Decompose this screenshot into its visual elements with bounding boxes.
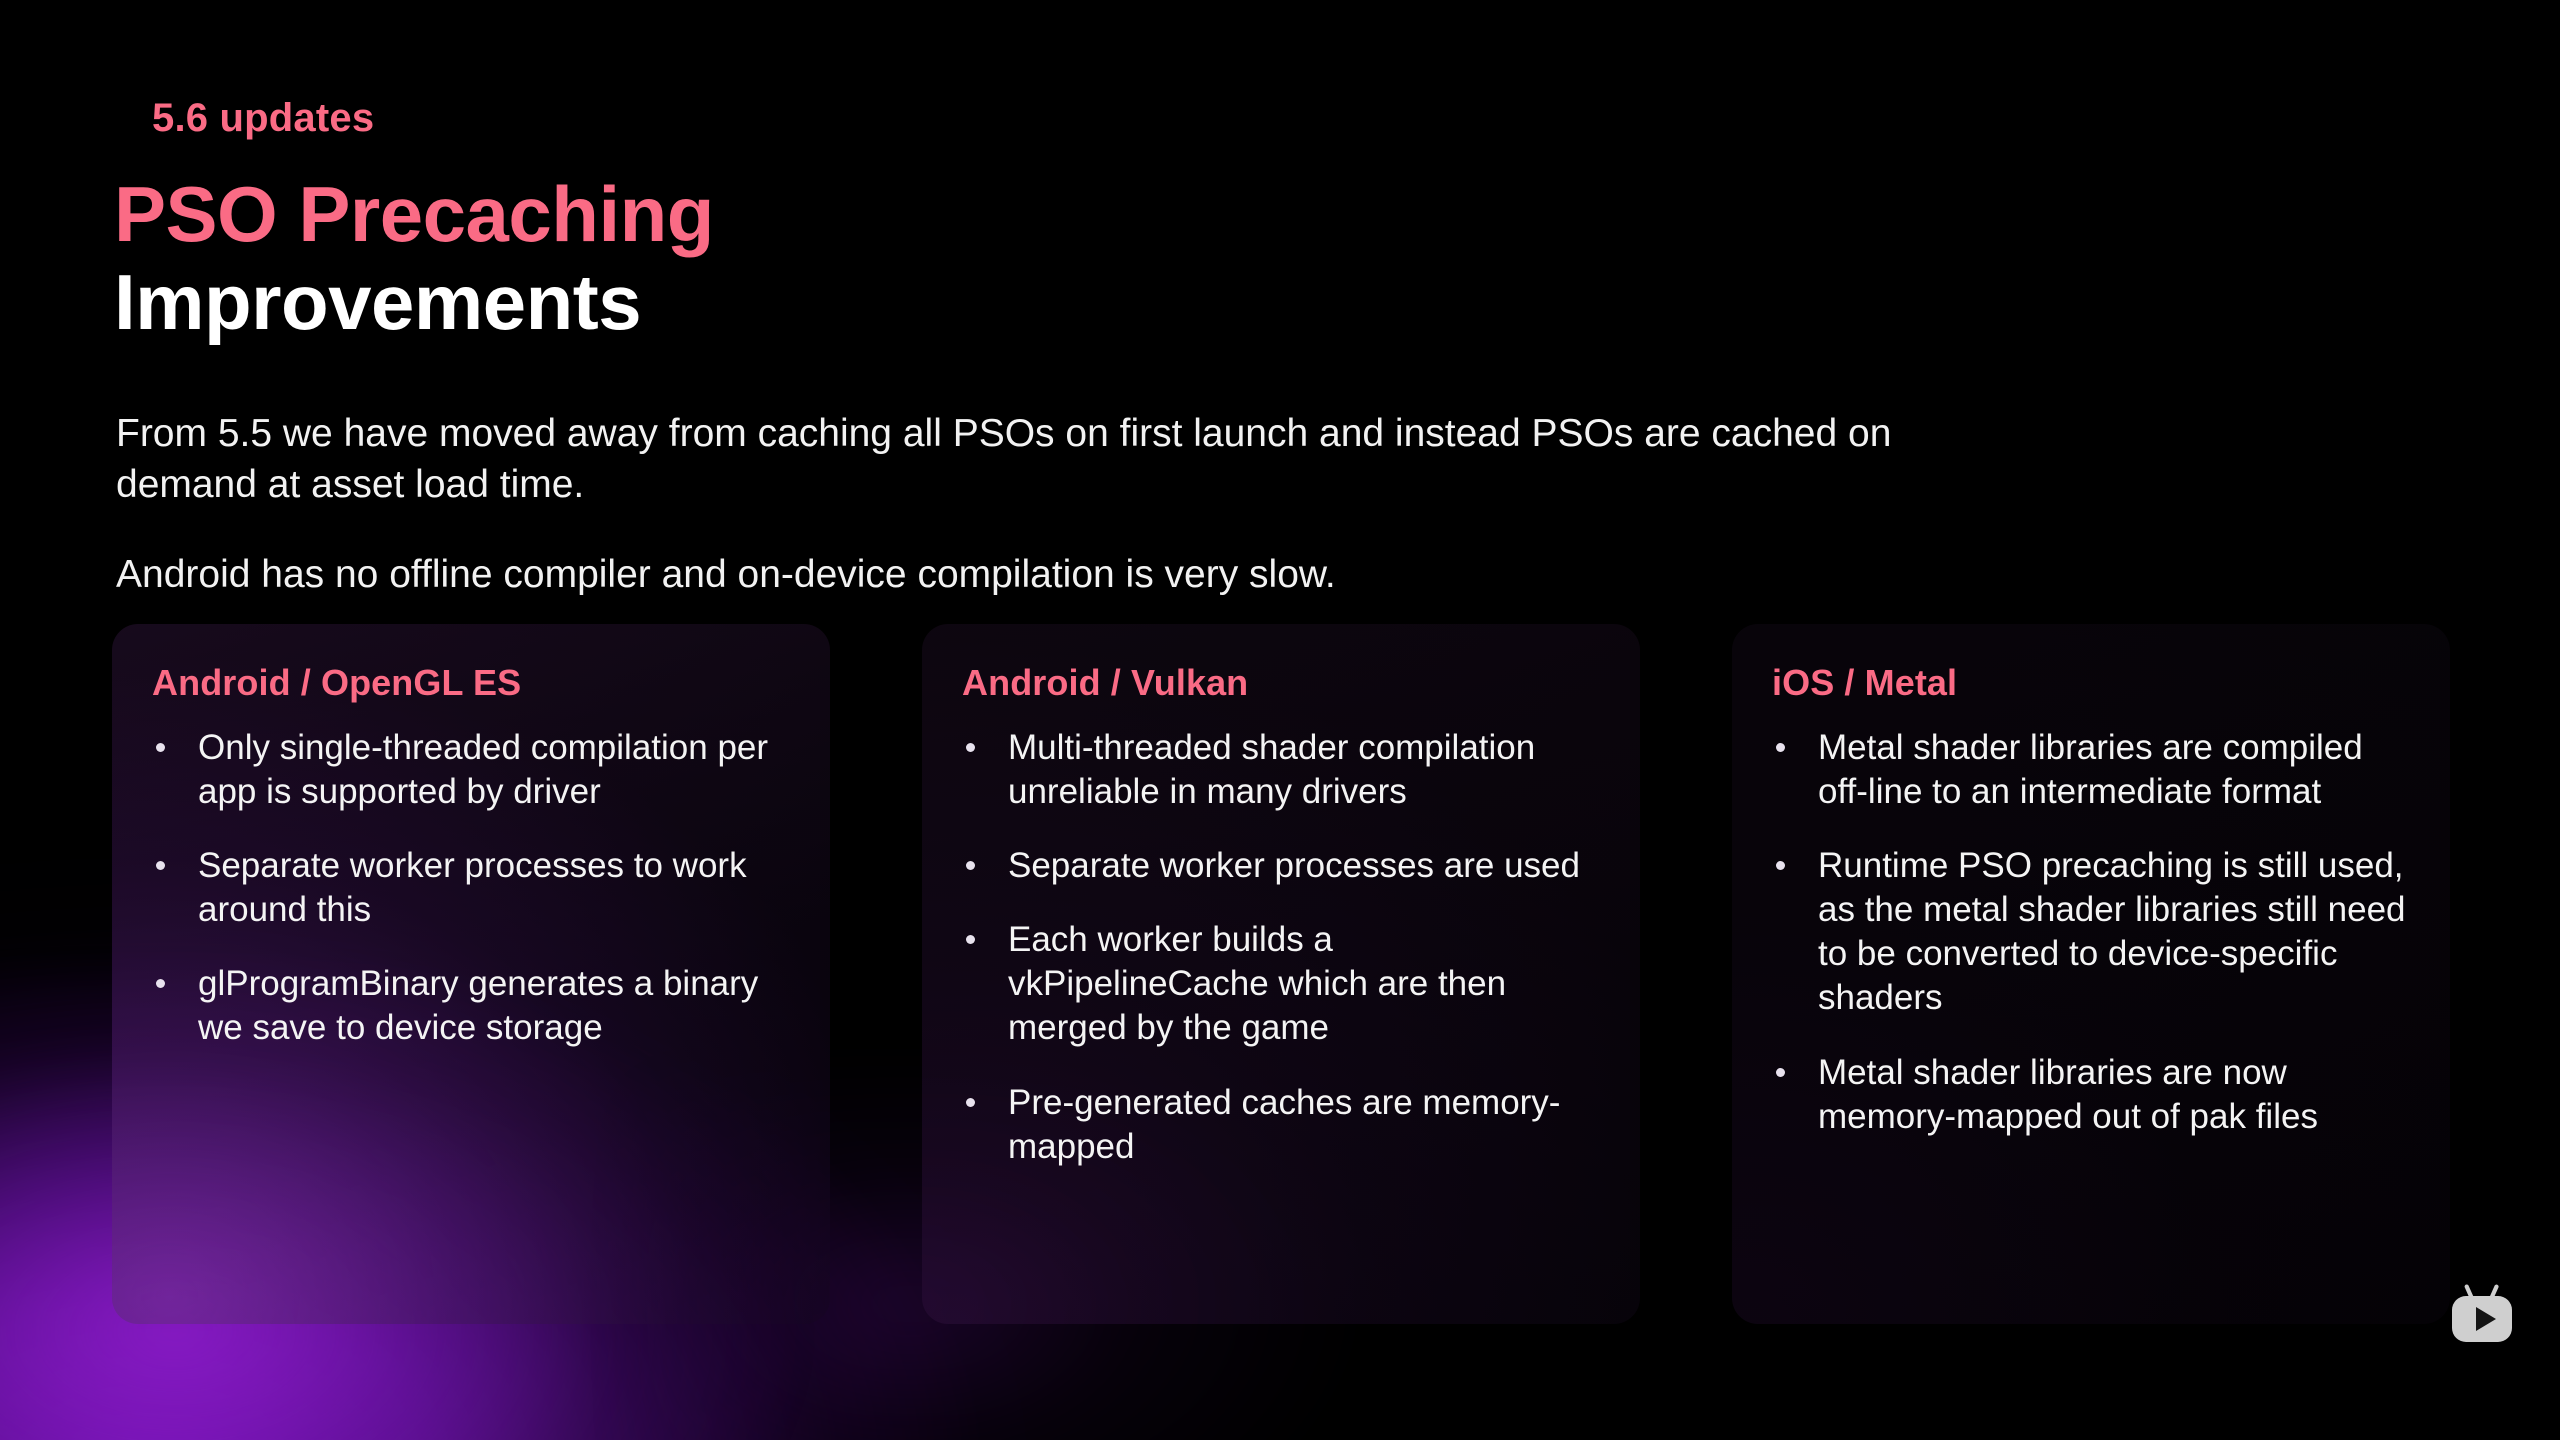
list-item-text: Separate worker processes are used <box>1008 846 1580 885</box>
bullet-list-android-opengl-es: Only single-threaded compilation per app… <box>144 726 790 1051</box>
bullet-dot-icon <box>156 979 165 988</box>
platform-cards-row: Android / OpenGL ES Only single-threaded… <box>112 624 2450 1324</box>
intro-paragraph-2: Android has no offline compiler and on-d… <box>116 549 1936 600</box>
list-item: Runtime PSO precaching is still used, as… <box>1764 844 2410 1020</box>
card-title-android-opengl-es: Android / OpenGL ES <box>152 662 790 704</box>
list-item-text: Multi-threaded shader compilation unreli… <box>1008 728 1535 811</box>
list-item: Each worker builds a vkPipelineCache whi… <box>954 918 1600 1050</box>
list-item-text: Runtime PSO precaching is still used, as… <box>1818 846 2406 1017</box>
bullet-dot-icon <box>1776 1068 1785 1077</box>
intro-paragraph-1: From 5.5 we have moved away from caching… <box>116 408 1936 511</box>
list-item-text: glProgramBinary generates a binary we sa… <box>198 964 758 1047</box>
bullet-list-ios-metal: Metal shader libraries are compiled off-… <box>1764 726 2410 1139</box>
list-item-text: Separate worker processes to work around… <box>198 846 747 929</box>
slide-intro-text: From 5.5 we have moved away from caching… <box>116 408 1936 600</box>
list-item-text: Each worker builds a vkPipelineCache whi… <box>1008 920 1506 1047</box>
bullet-dot-icon <box>966 935 975 944</box>
slide-root: 5.6 updates PSO Precaching Improvements … <box>0 0 2560 1440</box>
list-item: glProgramBinary generates a binary we sa… <box>144 962 790 1050</box>
page-title-accent-line: PSO Precaching <box>114 175 714 255</box>
list-item: Multi-threaded shader compilation unreli… <box>954 726 1600 814</box>
bullet-list-android-vulkan: Multi-threaded shader compilation unreli… <box>954 726 1600 1169</box>
card-title-ios-metal: iOS / Metal <box>1772 662 2410 704</box>
list-item: Only single-threaded compilation per app… <box>144 726 790 814</box>
card-title-android-vulkan: Android / Vulkan <box>962 662 1600 704</box>
list-item-text: Metal shader libraries are now memory-ma… <box>1818 1053 2318 1136</box>
bullet-dot-icon <box>156 743 165 752</box>
list-item: Separate worker processes to work around… <box>144 844 790 932</box>
video-player-icon[interactable] <box>2446 1284 2518 1344</box>
bullet-dot-icon <box>966 861 975 870</box>
bullet-dot-icon <box>966 743 975 752</box>
list-item-text: Metal shader libraries are compiled off-… <box>1818 728 2363 811</box>
list-item: Separate worker processes are used <box>954 844 1600 888</box>
page-title-white-line: Improvements <box>114 263 714 343</box>
card-android-vulkan: Android / Vulkan Multi-threaded shader c… <box>922 624 1640 1324</box>
list-item: Metal shader libraries are compiled off-… <box>1764 726 2410 814</box>
card-ios-metal: iOS / Metal Metal shader libraries are c… <box>1732 624 2450 1324</box>
bullet-dot-icon <box>156 861 165 870</box>
page-title: PSO Precaching Improvements <box>114 175 714 342</box>
list-item: Metal shader libraries are now memory-ma… <box>1764 1051 2410 1139</box>
bullet-dot-icon <box>1776 861 1785 870</box>
bullet-dot-icon <box>966 1098 975 1107</box>
list-item: Pre-generated caches are memory-mapped <box>954 1081 1600 1169</box>
list-item-text: Pre-generated caches are memory-mapped <box>1008 1083 1560 1166</box>
bullet-dot-icon <box>1776 743 1785 752</box>
card-android-opengl-es: Android / OpenGL ES Only single-threaded… <box>112 624 830 1324</box>
slide-eyebrow: 5.6 updates <box>152 96 374 141</box>
list-item-text: Only single-threaded compilation per app… <box>198 728 768 811</box>
